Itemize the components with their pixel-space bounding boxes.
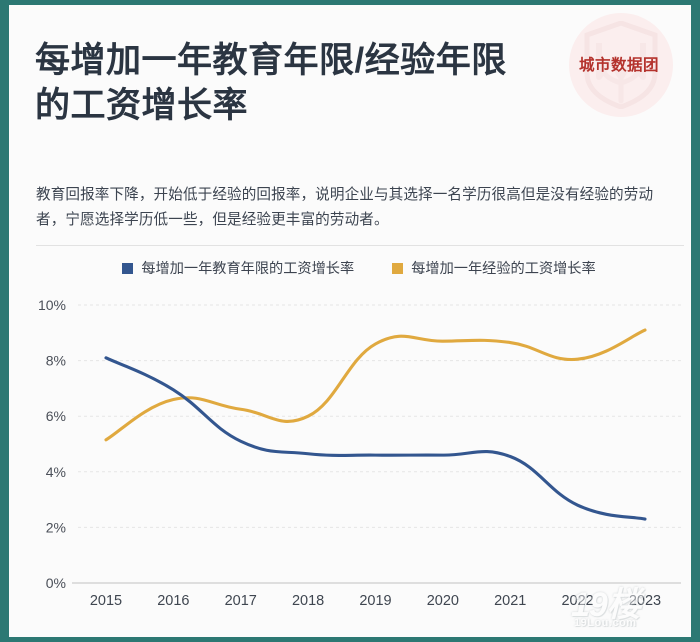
- y-tick-label: 2%: [46, 519, 66, 535]
- y-tick-label: 6%: [46, 408, 66, 424]
- x-tick-label: 2023: [629, 593, 661, 609]
- grid-lines: [78, 305, 681, 527]
- y-tick-label: 10%: [38, 297, 66, 313]
- chart-legend: 每增加一年教育年限的工资增长率 每增加一年经验的工资增长率: [9, 258, 691, 278]
- series-line-education: [106, 358, 645, 519]
- x-tick-label: 2019: [359, 593, 391, 609]
- legend-swatch-blue-icon: [122, 263, 133, 274]
- line-chart: 0%2%4%6%8%10% 20152016201720182019202020…: [9, 291, 691, 621]
- series-line-experience: [106, 330, 645, 440]
- x-tick-label: 2020: [427, 593, 459, 609]
- x-tick-label: 2018: [292, 593, 324, 609]
- legend-swatch-orange-icon: [392, 263, 403, 274]
- legend-item-education[interactable]: 每增加一年教育年限的工资增长率: [122, 258, 354, 278]
- y-tick-label: 4%: [46, 464, 66, 480]
- x-tick-label: 2015: [90, 593, 122, 609]
- y-tick-label: 0%: [46, 575, 66, 591]
- y-axis-labels: 0%2%4%6%8%10%: [38, 297, 66, 591]
- legend-item-experience[interactable]: 每增加一年经验的工资增长率: [392, 258, 595, 278]
- x-tick-label: 2021: [494, 593, 526, 609]
- legend-label-experience: 每增加一年经验的工资增长率: [411, 258, 595, 278]
- y-tick-label: 8%: [46, 353, 66, 369]
- chart-svg: 0%2%4%6%8%10% 20152016201720182019202020…: [9, 291, 691, 621]
- infographic-page: 城市数据团 每增加一年教育年限/经验年限的工资增长率 教育回报率下降，开始低于经…: [0, 0, 700, 642]
- x-axis-labels: 201520162017201820192020202120222023: [90, 593, 661, 609]
- brand-logo: 城市数据团: [555, 13, 683, 121]
- page-inner: 城市数据团 每增加一年教育年限/经验年限的工资增长率 教育回报率下降，开始低于经…: [9, 5, 691, 637]
- brand-name: 城市数据团: [563, 53, 675, 75]
- subtitle-text: 教育回报率下降，开始低于经验的回报率，说明企业与其选择一名学历很高但是没有经验的…: [36, 183, 681, 233]
- x-tick-label: 2016: [157, 593, 189, 609]
- divider: [36, 245, 684, 246]
- page-title: 每增加一年教育年限/经验年限的工资增长率: [35, 39, 535, 129]
- legend-label-education: 每增加一年教育年限的工资增长率: [141, 258, 354, 278]
- x-tick-label: 2022: [561, 593, 593, 609]
- x-tick-label: 2017: [225, 593, 257, 609]
